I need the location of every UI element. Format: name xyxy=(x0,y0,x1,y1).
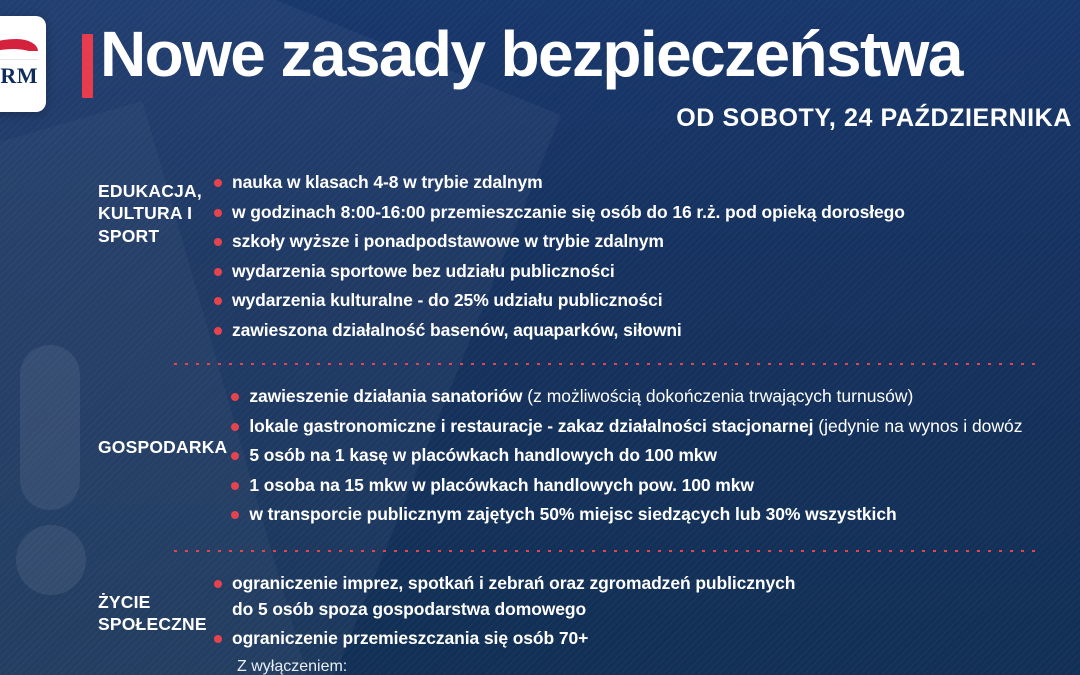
bullet-dot-icon xyxy=(214,209,222,217)
list-item-note: (jedynie na wynos i dowóz xyxy=(813,416,1022,436)
bullet-dot-icon xyxy=(231,452,239,460)
section-divider xyxy=(170,550,1038,552)
bullet-dot-icon xyxy=(231,393,239,401)
header: Nowe zasady bezpieczeństwa OD SOBOTY, 24… xyxy=(82,22,1080,133)
list-item: 5 osób na 1 kasę w placówkach handlowych… xyxy=(227,443,1080,469)
list-item: lokale gastronomiczne i restauracje - za… xyxy=(227,414,1080,440)
section-social-life: ŻYCIE SPOŁECZNE ograniczenie imprez, spo… xyxy=(0,552,1080,675)
list-item: zawieszona działalność basenów, aquapark… xyxy=(210,318,1080,344)
list-item-text: szkoły wyższe i ponadpodstawowe w trybie… xyxy=(232,231,664,251)
list-item-text: wydarzenia sportowe bez udziału publiczn… xyxy=(232,261,615,281)
sections-container: EDUKACJA, KULTURA I SPORT nauka w klasac… xyxy=(0,160,1080,675)
bullet-dot-icon xyxy=(231,511,239,519)
list-item: ograniczenie imprez, spotkań i zebrań or… xyxy=(210,571,1080,622)
list-item-text: nauka w klasach 4-8 w trybie zdalnym xyxy=(232,172,543,192)
list-item: wydarzenia sportowe bez udziału publiczn… xyxy=(210,259,1080,285)
section-label-line2: SPOŁECZNE xyxy=(98,613,210,635)
list-item-text: lokale gastronomiczne i restauracje - za… xyxy=(249,416,813,436)
list-item: wydarzenia kulturalne - do 25% udziału p… xyxy=(210,288,1080,314)
bullet-dot-icon xyxy=(214,238,222,246)
list-item: szkoły wyższe i ponadpodstawowe w trybie… xyxy=(210,229,1080,255)
bullet-dot-icon xyxy=(231,482,239,490)
section-label-line1: EDUKACJA, xyxy=(98,180,210,202)
bullet-dot-icon xyxy=(214,635,222,643)
list-item-text: ograniczenie przemieszczania się osób 70… xyxy=(232,628,588,648)
polish-flag-icon xyxy=(0,37,38,63)
section-label-economy: GOSPODARKA xyxy=(0,384,227,458)
list-item-text: w godzinach 8:00-16:00 przemieszczanie s… xyxy=(232,202,905,222)
page-title: Nowe zasady bezpieczeństwa xyxy=(100,22,962,87)
section-education: EDUKACJA, KULTURA I SPORT nauka w klasac… xyxy=(0,160,1080,347)
section-list-economy: zawieszenie działania sanatoriów (z możl… xyxy=(227,384,1080,532)
bullet-dot-icon xyxy=(214,327,222,335)
list-item-text: zawieszenie działania sanatoriów xyxy=(249,386,522,406)
bullet-dot-icon xyxy=(214,179,222,187)
section-label-social-life: ŻYCIE SPOŁECZNE xyxy=(0,571,210,636)
list-item-note: (z możliwością dokończenia trwających tu… xyxy=(522,386,913,406)
section-label-line2: KULTURA I SPORT xyxy=(98,202,210,247)
section-divider xyxy=(170,363,1038,365)
title-accent-bar xyxy=(82,34,93,98)
exclusion-note: Z wyłączeniem: xyxy=(210,656,1080,675)
list-item-text: ograniczenie imprez, spotkań i zebrań or… xyxy=(232,573,795,593)
section-label-education: EDUKACJA, KULTURA I SPORT xyxy=(0,170,210,247)
section-list-social-life: ograniczenie imprez, spotkań i zebrań or… xyxy=(210,571,1080,675)
list-item-text: wydarzenia kulturalne - do 25% udziału p… xyxy=(232,290,663,310)
list-item: nauka w klasach 4-8 w trybie zdalnym xyxy=(210,170,1080,196)
list-item-text: w transporcie publicznym zajętych 50% mi… xyxy=(249,504,896,524)
bullet-dot-icon xyxy=(214,297,222,305)
page-subtitle: OD SOBOTY, 24 PAŹDZIERNIKA xyxy=(82,104,1080,133)
section-label-line1: GOSPODARKA xyxy=(98,436,227,458)
list-item: zawieszenie działania sanatoriów (z możl… xyxy=(227,384,1080,410)
list-item: ograniczenie przemieszczania się osób 70… xyxy=(210,626,1080,652)
list-item-text: zawieszona działalność basenów, aquapark… xyxy=(232,320,682,340)
bullet-dot-icon xyxy=(214,268,222,276)
bullet-dot-icon xyxy=(214,580,222,588)
logo-text: RM xyxy=(0,65,38,87)
list-item-text: 1 osoba na 15 mkw w placówkach handlowyc… xyxy=(249,475,754,495)
list-item-text-line2: do 5 osób spoza gospodarstwa domowego xyxy=(232,599,586,619)
list-item-text: 5 osób na 1 kasę w placówkach handlowych… xyxy=(249,445,717,465)
section-label-line1: ŻYCIE xyxy=(98,591,210,613)
list-item: w transporcie publicznym zajętych 50% mi… xyxy=(227,502,1080,528)
section-economy: GOSPODARKA zawieszenie działania sanator… xyxy=(0,365,1080,532)
section-list-education: nauka w klasach 4-8 w trybie zdalnym w g… xyxy=(210,170,1080,347)
bullet-dot-icon xyxy=(231,423,239,431)
list-item: w godzinach 8:00-16:00 przemieszczanie s… xyxy=(210,200,1080,226)
list-item: 1 osoba na 15 mkw w placówkach handlowyc… xyxy=(227,473,1080,499)
kprm-logo: RM xyxy=(0,16,46,112)
infographic-poster: RM Nowe zasady bezpieczeństwa OD SOBOTY,… xyxy=(0,0,1080,675)
